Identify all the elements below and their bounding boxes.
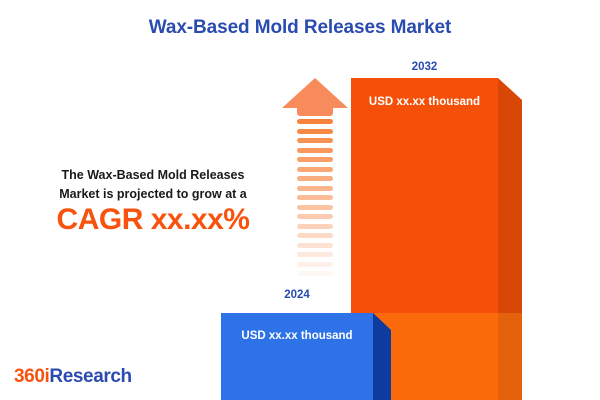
arrow-stripe bbox=[297, 148, 333, 153]
arrow-stripe bbox=[297, 157, 333, 162]
arrow-stripe bbox=[297, 138, 333, 143]
arrow-stripe bbox=[297, 176, 333, 181]
growth-statement: The Wax-Based Mold Releases Market is pr… bbox=[28, 166, 278, 204]
arrow-stripe bbox=[297, 224, 333, 229]
arrow-stripe bbox=[297, 205, 333, 210]
upward-growth-arrow bbox=[282, 78, 352, 300]
arrow-stripe bbox=[297, 186, 333, 191]
arrow-stripe bbox=[297, 262, 333, 267]
arrow-stripe bbox=[297, 252, 333, 257]
arrow-stripe bbox=[297, 214, 333, 219]
cagr-value: CAGR xx.xx% bbox=[28, 203, 278, 237]
bar-2024-value-label: USD xx.xx thousand bbox=[221, 330, 373, 342]
arrow-stripes bbox=[297, 119, 333, 300]
arrow-neck bbox=[297, 108, 333, 116]
bar-2032-year-label: 2032 bbox=[351, 61, 498, 73]
infographic-canvas: Wax-Based Mold Releases Market 2032 USD … bbox=[0, 0, 600, 400]
bar-2032-side-face-lower bbox=[498, 313, 522, 400]
bar-2032-value-label: USD xx.xx thousand bbox=[351, 96, 498, 108]
arrow-stripe bbox=[297, 243, 333, 248]
bar-2032-front-upper bbox=[351, 78, 498, 313]
arrow-stripe bbox=[297, 129, 333, 134]
brand-logo-prefix: 360i bbox=[14, 366, 49, 387]
brand-logo-suffix: Research bbox=[49, 366, 131, 387]
growth-statement-line-2: Market is projected to grow at a bbox=[28, 185, 278, 204]
arrow-stripe bbox=[297, 281, 333, 286]
arrow-head-icon bbox=[282, 78, 348, 108]
arrow-stripe bbox=[297, 167, 333, 172]
bar-2024-year-label: 2024 bbox=[221, 289, 373, 301]
bar-2024-front-face bbox=[221, 313, 373, 400]
growth-statement-line-1: The Wax-Based Mold Releases bbox=[28, 166, 278, 185]
bar-2024: 2024 USD xx.xx thousand bbox=[221, 313, 391, 400]
arrow-stripe bbox=[297, 271, 333, 276]
arrow-stripe bbox=[297, 233, 333, 238]
page-title: Wax-Based Mold Releases Market bbox=[0, 17, 600, 39]
arrow-stripe bbox=[297, 195, 333, 200]
bar-2024-side-face bbox=[373, 313, 391, 400]
brand-logo: 360iResearch bbox=[14, 366, 132, 388]
arrow-stripe bbox=[297, 119, 333, 124]
